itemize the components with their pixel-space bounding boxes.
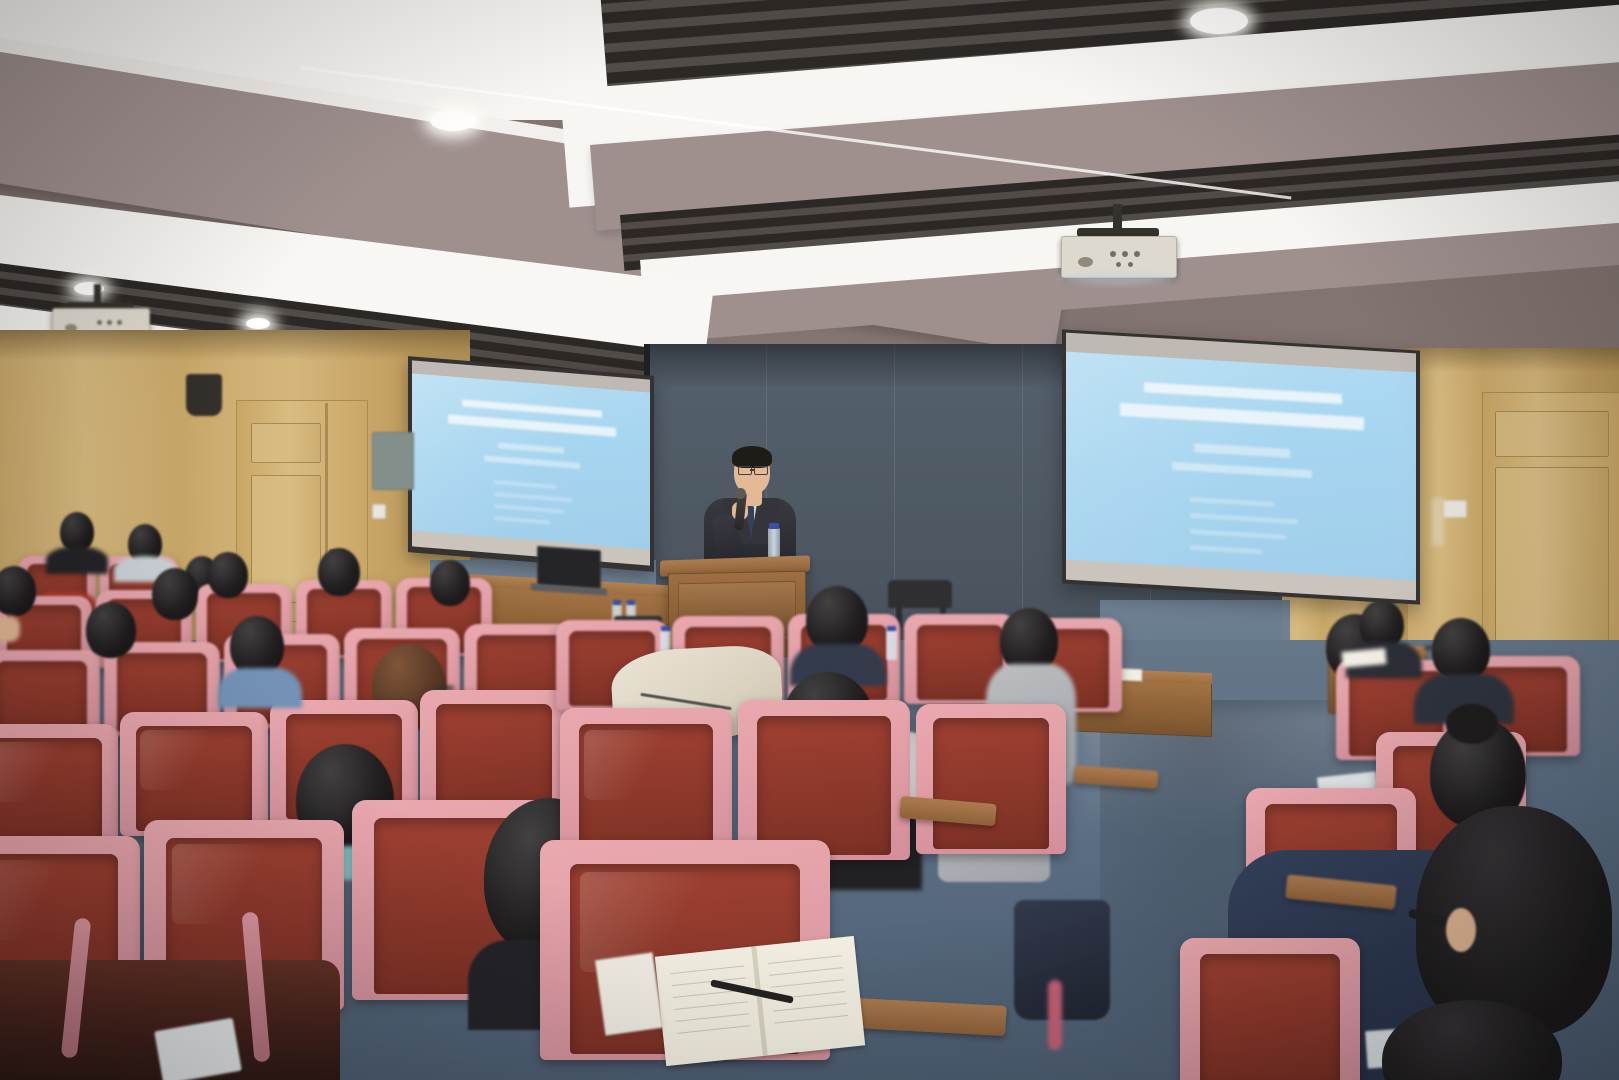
projector-button	[1110, 251, 1116, 257]
projector-button	[97, 320, 102, 325]
wall-plate-left	[372, 432, 414, 490]
projector-right	[1055, 218, 1180, 290]
water-bottle	[886, 630, 897, 660]
wall-left-shadowband	[0, 330, 470, 360]
microphone-head	[735, 488, 746, 499]
notebook-spine	[751, 946, 767, 1056]
audience-head	[86, 602, 136, 658]
water-bottle-cap	[887, 626, 896, 631]
seat	[0, 724, 118, 848]
water-bottle-cap	[627, 600, 635, 605]
ceiling-downlight-1	[1190, 8, 1248, 34]
eyeglasses-right-lens	[754, 466, 768, 475]
audience-head	[230, 616, 284, 676]
right-screen-surface	[1066, 352, 1416, 585]
projector-button	[117, 320, 122, 325]
eyeglasses-bridge	[750, 469, 754, 471]
water-bottle-cap	[613, 600, 621, 605]
paper-sheet	[595, 952, 663, 1035]
seat	[420, 690, 568, 814]
wall-outlet-left	[372, 504, 386, 519]
projector-button	[1128, 262, 1133, 267]
door-panel-upper	[1495, 411, 1609, 457]
ceiling-downlight-6	[246, 318, 270, 329]
loudspeaker-box	[186, 374, 222, 416]
eyeglasses-left-lens	[738, 466, 752, 475]
audience-head	[152, 568, 198, 620]
seat	[916, 704, 1066, 854]
projector-button	[1122, 251, 1128, 257]
projector-shadow	[1057, 272, 1177, 284]
wall-sign-right	[1443, 500, 1467, 518]
lecture-hall-photo	[0, 0, 1619, 1080]
seat	[120, 712, 268, 836]
seat	[1180, 938, 1360, 1080]
seat	[738, 700, 910, 860]
water-bottle-cap	[661, 626, 670, 631]
audience-shoulders	[218, 668, 302, 708]
audience-head	[430, 560, 470, 606]
projector-button	[107, 320, 112, 325]
door-panel-upper	[251, 423, 321, 463]
wall-right-shadowband	[1400, 348, 1619, 372]
projector-mount-pole	[94, 284, 101, 304]
audience-head	[1432, 618, 1490, 682]
water-bottle-cap	[769, 523, 779, 529]
projector-lens	[1078, 257, 1093, 267]
navy-backpack	[1014, 900, 1110, 1020]
wall-notice-right	[1432, 498, 1444, 546]
ceiling-downlight-2	[430, 110, 476, 131]
projector-mount-pole	[1113, 204, 1122, 230]
eyeglasses-temple	[1424, 646, 1442, 650]
projector-button	[1134, 251, 1140, 257]
audience-hand	[0, 616, 20, 642]
backpack-strap	[1048, 980, 1062, 1050]
audience-head	[318, 548, 360, 596]
audience-ear	[1446, 908, 1476, 952]
audience-hair-bun	[1446, 704, 1498, 744]
left-screen-surface	[412, 373, 650, 552]
stage-chair[interactable]	[888, 580, 952, 608]
audience-shoulders	[46, 546, 108, 574]
open-notebook[interactable]	[655, 936, 865, 1066]
presenter-hair	[732, 446, 772, 468]
audience-head	[208, 552, 248, 598]
projector-button	[1116, 262, 1121, 267]
water-bottle	[768, 528, 780, 558]
